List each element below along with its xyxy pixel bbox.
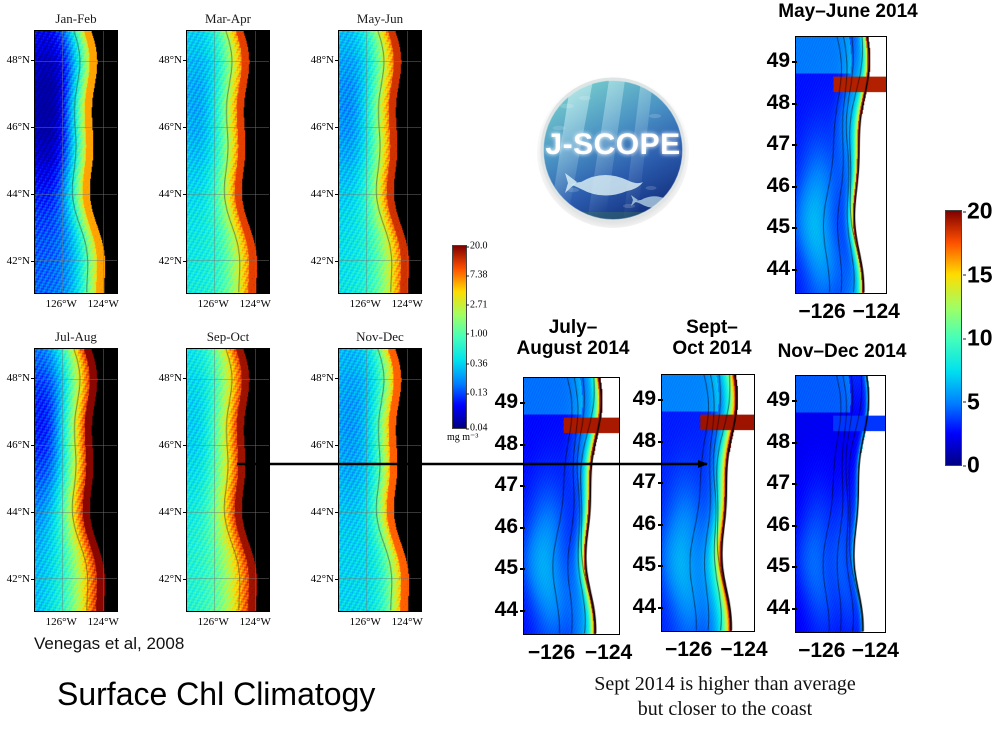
gridline-latitude [35,512,117,513]
forecast-field-canvas [796,376,885,632]
climatology-field-canvas [35,349,117,611]
linear-colorbar-tick-label: 15 [967,261,993,288]
gridline-latitude [339,445,421,446]
climatology-xtick-label: 124°W [392,298,423,310]
forecast-field-canvas [524,378,619,634]
climatology-xtick-label: 124°W [240,298,271,310]
forecast-ytick-label: 47 [767,471,790,495]
climatology-xtick-label: 124°W [88,616,119,628]
j-scope-logo: J-SCOPE [533,72,693,232]
gridline-longitude [62,31,63,293]
climatology-panel-jan-feb: Jan-Feb48°N46°N44°N42°N126°W124°W [34,30,118,294]
climatology-field-canvas [187,349,269,611]
forecast-xtick-label: −126 [665,638,712,662]
gridline-latitude [187,127,269,128]
climatology-ytick-label: 48°N [311,54,334,66]
climatology-xtick-label: 126°W [350,298,381,310]
forecast-ytick-label: 45 [633,553,656,577]
gridline-latitude [187,194,269,195]
gridline-latitude [187,512,269,513]
gridline-longitude [366,349,367,611]
j-scope-logo-graphic: J-SCOPE [533,72,693,232]
linear-colorbar-gradient: 20151050 [945,210,962,466]
climatology-map-image [338,30,422,294]
forecast-ytick-label: 47 [633,470,656,494]
gridline-latitude [187,445,269,446]
gridline-longitude [103,31,104,293]
climatology-panel-mar-apr: Mar-Apr48°N46°N44°N42°N126°W124°W [186,30,270,294]
forecast-ytick-label: 46 [767,513,790,537]
climatology-map-image [34,348,118,612]
climatology-field-canvas [35,31,117,293]
climatology-xtick-label: 124°W [240,616,271,628]
climatology-map-image [186,348,270,612]
forecast-xtick-label: −126 [528,641,575,665]
climatology-xtick-label: 124°W [88,298,119,310]
gridline-latitude [35,445,117,446]
linear-colorbar-tick-label: 20 [967,198,993,225]
climatology-ytick-label: 44°N [7,188,30,200]
climatology-ytick-label: 42°N [7,255,30,267]
forecast-xtick-label: −124 [720,638,767,662]
forecast-ytick-label: 45 [767,554,790,578]
forecast-ytick-label: 45 [767,215,790,239]
climatology-ytick-label: 44°N [7,506,30,518]
gridline-longitude [62,349,63,611]
climatology-map-image [338,348,422,612]
climatology-panel-sep-oct: Sep-Oct48°N46°N44°N42°N126°W124°W [186,348,270,612]
log-colorbar-tick-label: 2.71 [470,299,488,310]
gridline-latitude [187,379,269,380]
log-colorbar-gradient: 20.07.382.711.000.360.130.04 [452,245,467,429]
gridline-latitude [339,578,421,579]
log-colorbar-tick-label: 0.36 [470,358,488,369]
climatology-ytick-label: 46°N [7,439,30,451]
gridline-latitude [339,512,421,513]
gridline-latitude [35,379,117,380]
climatology-ytick-label: 44°N [311,506,334,518]
forecast-map-image [523,377,620,635]
forecast-ytick-label: 48 [767,430,790,454]
forecast-panel-1: July– August 2014494847464544−126−124 [523,377,620,635]
gridline-latitude [339,61,421,62]
gridline-longitude [214,349,215,611]
linear-colorbar-tick-label: 5 [967,388,980,415]
forecast-xtick-label: −126 [798,639,845,663]
climatology-panel-title: Jul-Aug [34,329,118,345]
climatology-panel-may-jun: May-Jun48°N46°N44°N42°N126°W124°W [338,30,422,294]
climatology-ytick-label: 44°N [311,188,334,200]
gridline-latitude [339,127,421,128]
climatology-xtick-label: 126°W [198,298,229,310]
linear-colorbar-tick-label: 0 [967,452,980,479]
gridline-latitude [187,260,269,261]
forecast-ytick-label: 44 [767,257,790,281]
forecast-panel-0: May–June 2014494847464544−126−124 [795,36,887,294]
forecast-ytick-label: 47 [767,132,790,156]
gridline-latitude [35,194,117,195]
gridline-latitude [339,260,421,261]
gridline-longitude [214,31,215,293]
climatology-panel-nov-dec: Nov-Dec48°N46°N44°N42°N126°W124°W [338,348,422,612]
gridline-longitude [103,349,104,611]
climatology-ytick-label: 42°N [7,573,30,585]
gridline-latitude [339,379,421,380]
climatology-ytick-label: 46°N [311,121,334,133]
forecast-panel-2: Sept– Oct 2014494847464544−126−124 [661,374,755,632]
forecast-panel-title: Nov–Dec 2014 [752,342,932,363]
gridline-longitude [255,349,256,611]
forecast-ytick-label: 48 [633,429,656,453]
climatology-ytick-label: 42°N [159,573,182,585]
gridline-latitude [35,127,117,128]
climatology-ytick-label: 48°N [7,372,30,384]
gridline-longitude [255,31,256,293]
climatology-panel-title: Mar-Apr [186,11,270,27]
climatology-xtick-label: 126°W [350,616,381,628]
forecast-panel-3: Nov–Dec 2014494847464544−126−124 [795,375,886,633]
climatology-panel-title: Jan-Feb [34,11,118,27]
gridline-latitude [187,61,269,62]
log-colorbar-tick-label: 20.0 [470,241,488,252]
forecast-ytick-label: 49 [495,390,518,414]
forecast-ytick-label: 46 [633,512,656,536]
climatology-xtick-label: 124°W [392,616,423,628]
forecast-xtick-label: −124 [585,641,632,665]
forecast-xtick-label: −126 [798,300,845,324]
gridline-latitude [35,578,117,579]
gridline-latitude [35,260,117,261]
climatology-ytick-label: 48°N [7,54,30,66]
forecast-ytick-label: 47 [495,473,518,497]
climatology-xtick-label: 126°W [198,616,229,628]
forecast-xtick-label: −124 [852,639,899,663]
gridline-latitude [35,61,117,62]
forecast-ytick-label: 48 [767,91,790,115]
log-colorbar-units-label: mg m⁻³ [447,432,478,443]
gridline-longitude [407,31,408,293]
log-colorbar-tick-label: 7.38 [470,270,488,281]
climatology-ytick-label: 42°N [159,255,182,267]
climatology-panel-title: May-Jun [338,11,422,27]
forecast-ytick-label: 44 [495,598,518,622]
climatology-ytick-label: 44°N [159,506,182,518]
climatology-credit: Venegas et al, 2008 [34,634,184,654]
gridline-latitude [187,578,269,579]
climatology-map-image [186,30,270,294]
forecast-ytick-label: 44 [767,596,790,620]
forecast-ytick-label: 44 [633,595,656,619]
log-colorbar-tick-label: 0.13 [470,388,488,399]
climatology-ytick-label: 46°N [159,439,182,451]
gridline-latitude [339,194,421,195]
page-title: Surface Chl Climatogy [57,676,375,713]
climatology-field-canvas [339,349,421,611]
climatology-ytick-label: 42°N [311,255,334,267]
forecast-field-canvas [796,37,886,293]
climatology-ytick-label: 48°N [311,372,334,384]
climatology-xtick-label: 126°W [46,616,77,628]
climatology-ytick-label: 46°N [311,439,334,451]
climatology-panel-title: Nov-Dec [338,329,422,345]
forecast-map-image [795,36,887,294]
climatology-ytick-label: 44°N [159,188,182,200]
climatology-field-canvas [339,31,421,293]
climatology-xtick-label: 126°W [46,298,77,310]
forecast-ytick-label: 49 [767,388,790,412]
climatology-ytick-label: 46°N [159,121,182,133]
forecast-caption: Sept 2014 is higher than average but clo… [530,672,920,722]
forecast-ytick-label: 49 [633,387,656,411]
climatology-panel-jul-aug: Jul-Aug48°N46°N44°N42°N126°W124°W [34,348,118,612]
linear-colorbar-tick-label: 10 [967,325,993,352]
forecast-ytick-label: 48 [495,432,518,456]
climatology-panel-title: Sep-Oct [186,329,270,345]
forecast-map-image [661,374,755,632]
forecast-xtick-label: −124 [853,300,900,324]
climatology-map-image [34,30,118,294]
forecast-ytick-label: 49 [767,49,790,73]
gridline-longitude [407,349,408,611]
forecast-ytick-label: 46 [767,174,790,198]
forecast-ytick-label: 46 [495,515,518,539]
climatology-field-canvas [187,31,269,293]
forecast-ytick-label: 45 [495,556,518,580]
gridline-longitude [366,31,367,293]
forecast-field-canvas [662,375,754,631]
climatology-ytick-label: 46°N [7,121,30,133]
forecast-map-image [795,375,886,633]
forecast-panel-title: May–June 2014 [758,2,938,23]
climatology-ytick-label: 42°N [311,573,334,585]
climatology-ytick-label: 48°N [159,54,182,66]
svg-text:J-SCOPE: J-SCOPE [545,128,680,161]
climatology-ytick-label: 48°N [159,372,182,384]
